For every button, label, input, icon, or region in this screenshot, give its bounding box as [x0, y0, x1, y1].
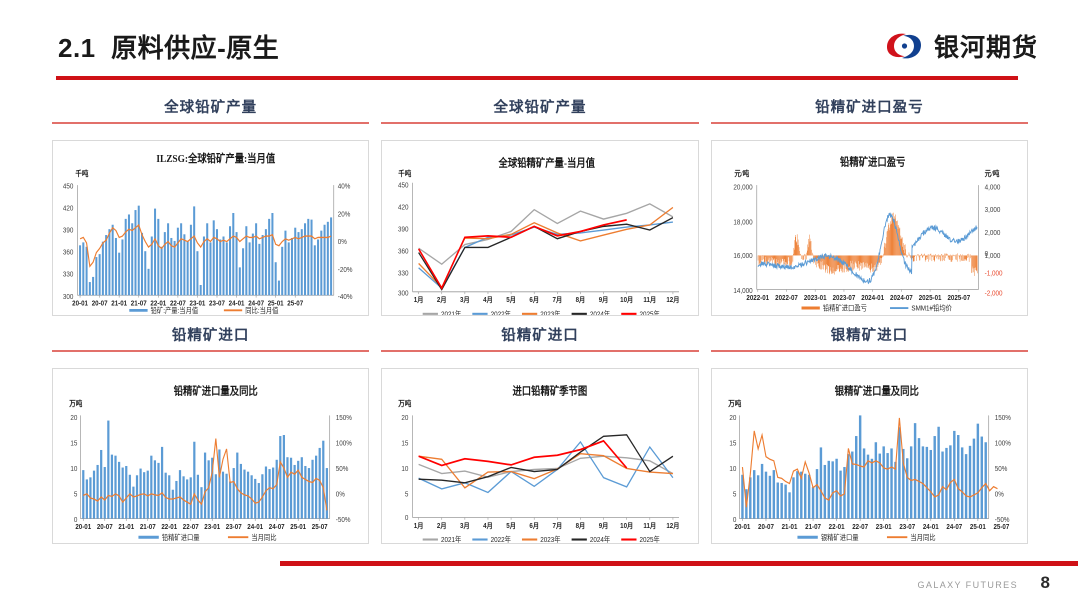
charts-grid: 全球铅矿产量 ILZSG:全球铅矿产量:当月值 千吨 450 420 390 3… [52, 96, 1028, 544]
svg-text:20: 20 [729, 415, 736, 422]
chart-card-silver-import-volume[interactable]: 银精矿进口量及同比 万吨 20 15 10 5 0 150% 100% 50% … [711, 368, 1028, 544]
svg-text:21-07: 21-07 [805, 524, 821, 531]
svg-text:150%: 150% [336, 415, 352, 422]
svg-text:0: 0 [405, 514, 409, 521]
chart-lead-import-volume: 铅精矿进口量及同比 万吨 20 15 10 5 0 150% 100% 50% … [53, 369, 368, 543]
slide-root: 2.1 原料供应-原生 银河期货 全球铅矿产量 ILZSG:全球铅矿产量:当月值… [0, 0, 1080, 608]
y-axis-unit: 千吨 [75, 168, 88, 178]
series-lines [419, 204, 673, 290]
chart-card-lead-concentrate-seasonal[interactable]: 全球铅精矿产量-当月值 千吨 450 420 390 360 330 300 1… [381, 140, 698, 316]
y-axis-right: 150% 100% 50% 0% -50% [336, 415, 352, 525]
svg-text:2022-07: 2022-07 [775, 295, 798, 302]
panel-silver-concentrate-import: 银精矿进口 银精矿进口量及同比 万吨 20 15 10 5 0 150% [711, 324, 1028, 544]
x-axis-ticks: 20-0120-0721-0121-0722-0122-0723-0123-07… [734, 519, 1009, 532]
svg-text:8月: 8月 [576, 522, 586, 531]
panel-header: 铅精矿进口 [52, 324, 369, 352]
svg-text:2024-01: 2024-01 [861, 295, 884, 302]
svg-text:20: 20 [70, 415, 77, 422]
svg-text:24-01: 24-01 [923, 524, 939, 531]
svg-text:450: 450 [398, 182, 409, 189]
y-axis-unit: 千吨 [399, 168, 412, 178]
panel-title: 铅精矿进口盈亏 [711, 96, 1028, 122]
svg-text:21-07: 21-07 [140, 524, 156, 531]
svg-text:20-07: 20-07 [758, 524, 774, 531]
y-axis-unit: 万吨 [727, 399, 741, 409]
svg-text:5: 5 [74, 491, 78, 498]
y-axis-unit-left: 元/吨 [734, 168, 749, 178]
chart-legend: 银精矿进口量 当月同比 [797, 532, 935, 542]
svg-text:11月: 11月 [644, 522, 657, 531]
panel-title: 全球铅矿产量 [381, 96, 698, 122]
svg-text:21-01: 21-01 [118, 524, 134, 531]
svg-text:23-07: 23-07 [226, 524, 242, 531]
panel-header: 铅精矿进口 [381, 324, 698, 352]
svg-text:2022年: 2022年 [491, 535, 512, 543]
legend-label-bars: 铅矿:产量:当月值 [151, 306, 199, 315]
panel-title: 银精矿进口 [711, 324, 1028, 350]
chart-ilzsg-lead-mine: ILZSG:全球铅矿产量:当月值 千吨 450 420 390 360 330 … [53, 141, 368, 315]
chart-legend: 铅精矿进口盈亏 SMM1#铅均价 [801, 303, 952, 313]
title-divider [56, 76, 1018, 80]
svg-text:12月: 12月 [667, 522, 680, 531]
bar-series [79, 206, 332, 296]
y-axis-left: 450 420 390 360 330 300 [63, 183, 74, 301]
svg-text:22-01: 22-01 [161, 524, 177, 531]
svg-text:0: 0 [984, 251, 988, 258]
chart-legend: 铅精矿进口量 当月同比 [138, 532, 276, 542]
svg-text:330: 330 [398, 270, 409, 277]
panel-lead-concentrate-import: 铅精矿进口 铅精矿进口量及同比 万吨 20 15 10 5 0 150% [52, 324, 369, 544]
svg-text:20-07: 20-07 [97, 524, 113, 531]
chart-title: 银精矿进口量及同比 [834, 384, 918, 398]
svg-text:-20%: -20% [338, 267, 353, 274]
svg-text:2024年: 2024年 [590, 535, 611, 543]
legend-label-line: 当月同比 [910, 532, 935, 542]
legend-label-bars: 铅精矿进口量 [162, 532, 200, 542]
legend-label-line: 同比:当月值 [245, 306, 278, 315]
panel-divider [711, 350, 1028, 352]
svg-text:2022年: 2022年 [491, 309, 512, 315]
svg-text:50%: 50% [994, 466, 1007, 473]
legend-label-line: SMM1#铅均价 [911, 303, 952, 313]
y-axis-unit-right: 元/吨 [984, 168, 999, 178]
svg-text:15: 15 [729, 440, 736, 447]
chart-title: 铅精矿进口量及同比 [174, 384, 258, 398]
chart-import-seasonal: 进口铅精矿季节图 万吨 20 15 10 5 0 1月2月3月4月5月6月7月8… [382, 369, 697, 543]
svg-text:2021年: 2021年 [441, 535, 462, 543]
svg-text:22-07: 22-07 [852, 524, 868, 531]
panel-title: 全球铅矿产量 [52, 96, 369, 122]
chart-card-lead-import-volume[interactable]: 铅精矿进口量及同比 万吨 20 15 10 5 0 150% 100% 50% … [52, 368, 369, 544]
chart-silver-import-volume: 银精矿进口量及同比 万吨 20 15 10 5 0 150% 100% 50% … [712, 369, 1027, 543]
panel-header: 全球铅矿产量 [381, 96, 698, 124]
svg-text:18,000: 18,000 [733, 219, 752, 226]
svg-text:23-07: 23-07 [899, 524, 915, 531]
y-axis-left: 20 15 10 5 0 [70, 415, 77, 525]
svg-text:4月: 4月 [483, 296, 493, 305]
svg-text:24-01: 24-01 [229, 300, 245, 307]
svg-text:420: 420 [398, 204, 409, 211]
x-axis-ticks: 1月2月3月4月5月6月7月8月9月10月11月12月 [414, 292, 680, 305]
svg-text:4,000: 4,000 [984, 184, 1000, 191]
svg-text:360: 360 [398, 248, 409, 255]
svg-text:2月: 2月 [437, 296, 447, 305]
svg-text:0%: 0% [336, 491, 345, 498]
svg-text:20,000: 20,000 [733, 184, 752, 191]
chart-card-import-pnl[interactable]: 铅精矿进口盈亏 元/吨 元/吨 20,000 18,000 16,000 14,… [711, 140, 1028, 316]
x-axis-ticks: 20-0120-0721-0121-0722-0122-0723-0123-07… [72, 295, 303, 308]
svg-text:5月: 5月 [507, 296, 517, 305]
svg-text:360: 360 [63, 249, 74, 256]
section-number: 2.1 [58, 33, 96, 63]
panel-divider [52, 122, 369, 124]
legend-label-bars: 银精矿进口量 [821, 532, 859, 542]
svg-text:15: 15 [70, 440, 77, 447]
panel-title: 铅精矿进口 [381, 324, 698, 350]
y-axis-left: 20,000 18,000 16,000 14,000 [733, 184, 752, 295]
svg-text:20: 20 [402, 415, 409, 422]
bar-series [82, 421, 328, 519]
panel-header: 铅精矿进口盈亏 [711, 96, 1028, 124]
panel-lead-concentrate-import-pnl: 铅精矿进口盈亏 铅精矿进口盈亏 元/吨 元/吨 20,000 18,000 16… [711, 96, 1028, 316]
panel-divider [52, 350, 369, 352]
svg-text:100%: 100% [336, 440, 352, 447]
svg-text:10: 10 [729, 466, 736, 473]
svg-text:2023年: 2023年 [541, 309, 562, 315]
svg-text:16,000: 16,000 [733, 253, 752, 260]
svg-text:150%: 150% [994, 415, 1010, 422]
svg-text:3,000: 3,000 [984, 206, 1000, 213]
footer-brand: GALAXY FUTURES [918, 580, 1018, 590]
chart-title: 全球铅精矿产量-当月值 [498, 156, 595, 170]
panel-divider [381, 122, 698, 124]
svg-text:330: 330 [63, 271, 74, 278]
panel-title: 铅精矿进口 [52, 324, 369, 350]
legend-label-area: 铅精矿进口盈亏 [823, 303, 867, 313]
svg-text:2023-07: 2023-07 [832, 295, 855, 302]
svg-text:0%: 0% [994, 491, 1003, 498]
svg-text:15: 15 [402, 440, 409, 447]
svg-text:-2,000: -2,000 [984, 290, 1002, 297]
svg-text:0%: 0% [338, 239, 347, 246]
svg-text:20-07: 20-07 [92, 300, 108, 307]
panel-global-lead-concentrate-output: 全球铅矿产量 全球铅精矿产量-当月值 千吨 450 420 390 360 33… [381, 96, 698, 316]
y-axis-left: 20 15 10 5 0 [729, 415, 736, 525]
svg-text:23-01: 23-01 [204, 524, 220, 531]
chart-legend: 2021年2022年2023年2024年2025年 [423, 309, 660, 315]
svg-text:10月: 10月 [620, 296, 633, 305]
chart-legend: 2021年2022年2023年2024年2025年 [423, 535, 660, 543]
x-axis-ticks: 2022-012022-072023-012023-072024-012024-… [746, 289, 970, 302]
svg-text:22-01: 22-01 [828, 524, 844, 531]
price-line-series [757, 213, 976, 284]
svg-text:2025-07: 2025-07 [947, 295, 970, 302]
svg-text:7月: 7月 [553, 522, 563, 531]
svg-text:2025-01: 2025-01 [918, 295, 941, 302]
panel-header: 全球铅矿产量 [52, 96, 369, 124]
panel-divider [381, 350, 698, 352]
chart-card-ilzsg-lead-mine[interactable]: ILZSG:全球铅矿产量:当月值 千吨 450 420 390 360 330 … [52, 140, 369, 316]
svg-text:23-01: 23-01 [875, 524, 891, 531]
svg-text:450: 450 [63, 183, 74, 190]
y-axis-left: 20 15 10 5 0 [402, 415, 409, 522]
panel-header: 银精矿进口 [711, 324, 1028, 352]
svg-text:10月: 10月 [620, 522, 633, 531]
svg-text:420: 420 [63, 205, 74, 212]
svg-text:20-01: 20-01 [734, 524, 750, 531]
svg-text:20-01: 20-01 [75, 524, 91, 531]
svg-text:390: 390 [398, 226, 409, 233]
svg-text:20-01: 20-01 [72, 300, 88, 307]
line-series [80, 225, 331, 266]
panel-divider [711, 122, 1028, 124]
svg-text:6月: 6月 [530, 522, 540, 531]
svg-text:22-07: 22-07 [183, 524, 199, 531]
svg-text:25-01: 25-01 [970, 524, 986, 531]
svg-text:-40%: -40% [338, 293, 353, 300]
svg-text:24-07: 24-07 [269, 524, 285, 531]
panel-imported-lead-concentrate-seasonal: 铅精矿进口 进口铅精矿季节图 万吨 20 15 10 5 0 [381, 324, 698, 544]
x-axis-ticks: 20-0120-0721-0121-0722-0122-0723-0123-07… [75, 519, 328, 532]
chart-card-import-seasonal[interactable]: 进口铅精矿季节图 万吨 20 15 10 5 0 1月2月3月4月5月6月7月8… [381, 368, 698, 544]
svg-text:25-01: 25-01 [290, 524, 306, 531]
svg-text:11月: 11月 [644, 296, 657, 305]
page-number: 8 [1041, 573, 1050, 593]
svg-text:25-07: 25-07 [287, 300, 303, 307]
section-title: 原料供应-原生 [111, 33, 279, 63]
svg-text:2月: 2月 [437, 522, 447, 531]
series-lines [419, 435, 673, 493]
footer-divider [280, 561, 1078, 566]
y-axis-right: 40% 20% 0% -20% -40% [338, 183, 353, 301]
svg-text:1月: 1月 [414, 296, 424, 305]
svg-text:3月: 3月 [460, 296, 470, 305]
x-axis-ticks: 1月2月3月4月5月6月7月8月9月10月11月12月 [414, 517, 680, 530]
chart-import-pnl: 铅精矿进口盈亏 元/吨 元/吨 20,000 18,000 16,000 14,… [712, 141, 1027, 315]
logo-text: 银河期货 [934, 28, 1038, 64]
y-axis-unit: 万吨 [68, 399, 82, 409]
svg-text:21-01: 21-01 [111, 300, 127, 307]
svg-text:2021年: 2021年 [441, 309, 462, 315]
svg-text:20%: 20% [338, 211, 351, 218]
svg-text:40%: 40% [338, 183, 351, 190]
svg-text:24-01: 24-01 [247, 524, 263, 531]
svg-text:21-01: 21-01 [781, 524, 797, 531]
svg-text:300: 300 [398, 290, 409, 297]
svg-text:7月: 7月 [553, 296, 563, 305]
svg-text:1月: 1月 [414, 522, 424, 531]
svg-text:6月: 6月 [530, 296, 540, 305]
svg-text:9月: 9月 [599, 296, 609, 305]
galaxy-swirl-icon [883, 30, 925, 62]
svg-text:21-07: 21-07 [131, 300, 147, 307]
legend-label-line: 当月同比 [251, 532, 276, 542]
svg-text:10: 10 [402, 466, 409, 473]
svg-text:390: 390 [63, 227, 74, 234]
y-axis-unit: 万吨 [398, 399, 412, 409]
svg-text:25-07: 25-07 [312, 524, 328, 531]
svg-text:4月: 4月 [483, 522, 493, 531]
svg-text:2023-01: 2023-01 [804, 295, 827, 302]
svg-text:25-07: 25-07 [993, 524, 1009, 531]
y-axis-left: 450 420 390 360 330 300 [398, 182, 409, 297]
svg-text:2025年: 2025年 [640, 535, 661, 543]
chart-title: 铅精矿进口盈亏 [840, 155, 905, 169]
panel-global-lead-mine-output: 全球铅矿产量 ILZSG:全球铅矿产量:当月值 千吨 450 420 390 3… [52, 96, 369, 316]
svg-text:2023年: 2023年 [541, 535, 562, 543]
chart-title: ILZSG:全球铅矿产量:当月值 [156, 151, 275, 165]
y-axis-right: 4,000 3,000 2,000 1,000 0 -1,000 -2,000 [984, 184, 1002, 297]
brand-logo: 银河期货 [883, 28, 1038, 64]
page-title: 2.1 原料供应-原生 [58, 28, 279, 65]
svg-text:3月: 3月 [460, 522, 470, 531]
svg-text:-1,000: -1,000 [984, 270, 1002, 277]
svg-text:2024年: 2024年 [590, 309, 611, 315]
svg-text:5: 5 [405, 491, 409, 498]
svg-text:100%: 100% [994, 440, 1010, 447]
svg-text:5: 5 [733, 491, 737, 498]
svg-text:2,000: 2,000 [984, 230, 1000, 237]
svg-text:12月: 12月 [667, 296, 680, 305]
svg-text:2024-07: 2024-07 [890, 295, 913, 302]
svg-text:-50%: -50% [336, 517, 351, 524]
chart-lead-concentrate-seasonal: 全球铅精矿产量-当月值 千吨 450 420 390 360 330 300 1… [382, 141, 697, 315]
y-axis-right: 150% 100% 50% 0% -50% [994, 415, 1010, 525]
svg-text:10: 10 [70, 466, 77, 473]
svg-text:9月: 9月 [599, 522, 609, 531]
svg-text:2025年: 2025年 [640, 309, 661, 315]
svg-text:8月: 8月 [576, 296, 586, 305]
svg-text:5月: 5月 [507, 522, 517, 531]
svg-text:24-07: 24-07 [946, 524, 962, 531]
chart-title: 进口铅精矿季节图 [513, 384, 588, 398]
svg-text:2022-01: 2022-01 [746, 295, 769, 302]
svg-text:23-07: 23-07 [209, 300, 225, 307]
svg-text:50%: 50% [336, 466, 349, 473]
